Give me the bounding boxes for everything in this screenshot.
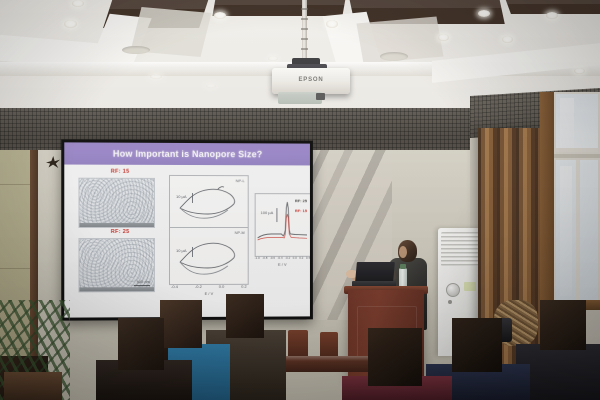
downlight-icon — [438, 34, 449, 41]
downlight-icon — [150, 74, 162, 79]
downlight-icon — [574, 68, 585, 74]
sem-label-bottom: RF: 25 — [111, 229, 130, 235]
cv-trace-top — [170, 176, 248, 228]
downlight-icon — [72, 0, 84, 7]
peak-xtick: 0.0 — [293, 256, 297, 260]
downlight-icon — [502, 36, 513, 43]
window-upper — [554, 92, 600, 154]
cv-x-axis-ticks: -0.4 -0.2 0.0 0.2 — [171, 284, 247, 289]
water-bottle-cap — [400, 264, 406, 269]
peak-xtick: -0.6 — [270, 256, 275, 260]
peak-xtick: -0.4 — [277, 256, 282, 260]
ceiling-soffit — [432, 43, 600, 83]
downlight-icon — [206, 84, 216, 88]
audience-member-head — [118, 318, 164, 370]
sem-scale-text: 500 nm — [137, 279, 150, 284]
slide-title-bar: How Important is Nanopore Size? — [64, 142, 310, 165]
chart-peak-comparison: 100 µA RF: 25 RF: 15 — [255, 193, 310, 257]
cv-xtick: -0.4 — [171, 284, 178, 289]
audience-member-head — [540, 300, 586, 350]
presenter-laptop-screen[interactable] — [355, 262, 395, 282]
cv-xtick: 0.2 — [241, 284, 247, 289]
downlight-icon — [326, 20, 338, 28]
window-lower — [554, 158, 600, 308]
cv-trace-bottom — [170, 228, 248, 284]
sem-image-top — [78, 178, 155, 228]
chart-cyclic-voltammogram-bottom: NP-M 10 µA — [169, 227, 249, 285]
downlight-icon — [64, 20, 77, 28]
audience-member-head — [452, 318, 502, 372]
peak-x-axis-label: E / V — [255, 262, 310, 267]
peak-x-axis-ticks: -1.0 -0.8 -0.6 -0.4 -0.2 0.0 0.2 0.4 — [255, 256, 310, 260]
planter-pot — [4, 372, 62, 400]
audience-member-head — [368, 328, 422, 386]
ac-indicator-icon — [448, 300, 452, 304]
downlight-icon — [268, 56, 278, 61]
projector-brand-label: EPSON — [272, 77, 350, 83]
projection-screen: How Important is Nanopore Size? RF: 15 R… — [61, 139, 313, 320]
peak-xtick: -1.0 — [255, 256, 260, 260]
ceiling-vent — [380, 52, 408, 61]
slide-title: How Important is Nanopore Size? — [113, 149, 263, 160]
presenter-face — [399, 246, 407, 258]
projector-mount-pole — [302, 0, 307, 62]
cv-xtick: 0.0 — [219, 284, 225, 289]
projector: EPSON — [272, 68, 350, 94]
ac-control-knob[interactable] — [446, 283, 460, 297]
sem-label-top: RF: 15 — [111, 169, 130, 175]
cv-xtick: -0.2 — [195, 284, 202, 289]
peak-xtick: 0.4 — [306, 256, 310, 260]
ceiling-beam — [212, 0, 345, 16]
peak-xtick: -0.2 — [285, 256, 290, 260]
audience-member-head — [226, 294, 264, 338]
ac-grille — [441, 232, 481, 266]
ac-energy-badge — [464, 282, 476, 291]
chart-cyclic-voltammogram-top: NP-L 10 µA — [169, 175, 249, 229]
downlight-icon — [478, 10, 490, 17]
sem-image-bottom: 500 nm — [78, 238, 155, 292]
audience-member-head — [160, 300, 202, 348]
ceiling-vent — [122, 46, 150, 54]
downlight-icon — [214, 12, 226, 19]
presentation-slide: How Important is Nanopore Size? RF: 15 R… — [64, 142, 310, 317]
lecture-hall-photo: EPSON How Important is Nanopore Size? RF… — [0, 0, 600, 400]
peak-xtick: 0.2 — [299, 256, 303, 260]
peak-traces — [256, 194, 310, 256]
downlight-icon — [546, 12, 558, 19]
peak-xtick: -0.8 — [262, 256, 267, 260]
projector-lens-icon — [316, 93, 325, 100]
